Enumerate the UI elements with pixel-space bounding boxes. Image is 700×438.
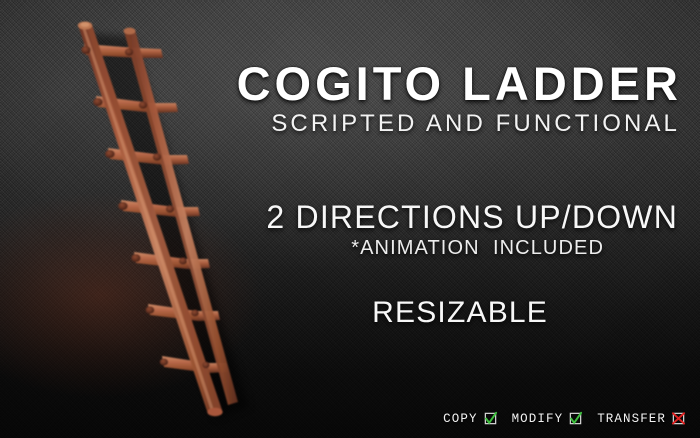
product-subtitle: SCRIPTED AND FUNCTIONAL (0, 110, 680, 138)
advertisement-banner: COGITO LADDER SCRIPTED AND FUNCTIONAL 2 … (0, 0, 700, 438)
permission-copy-label: COPY (443, 412, 477, 426)
feature-directions: 2 DIRECTIONS UP/DOWN (0, 199, 678, 236)
permission-transfer: TRANSFER (597, 411, 686, 426)
feature-animation: *ANIMATION INCLUDED (0, 237, 604, 260)
checkbox-crossed-icon (671, 411, 686, 426)
permission-modify-label: MODIFY (512, 412, 564, 426)
product-title: COGITO LADDER (0, 56, 682, 111)
checkbox-checked-icon (483, 411, 498, 426)
permissions-row: COPY MODIFY TRANSFER (443, 411, 686, 426)
permission-copy: COPY (443, 411, 497, 426)
permission-transfer-label: TRANSFER (597, 412, 666, 426)
permission-modify: MODIFY (512, 411, 584, 426)
checkbox-checked-icon (568, 411, 583, 426)
feature-resizable: RESIZABLE (0, 296, 548, 330)
